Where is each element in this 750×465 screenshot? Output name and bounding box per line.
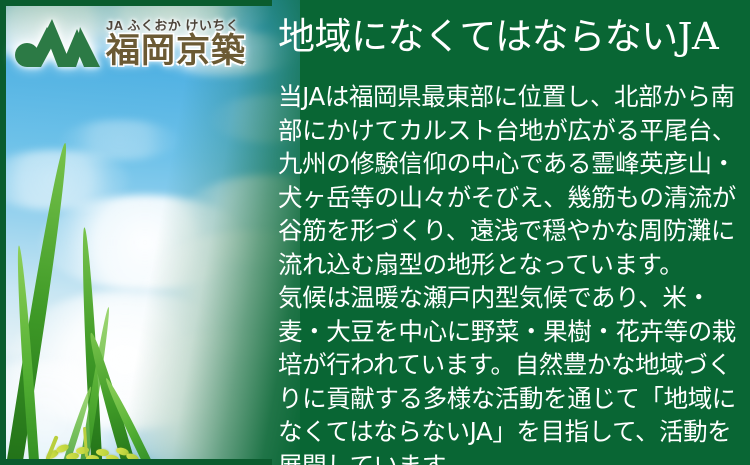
ja-fukuoka-keichiku-banner: JA ふくおか けいちく 福岡京築 地域になくてはならないJA 当JAは福岡県最…: [0, 0, 750, 465]
logo-wordmark: JA ふくおか けいちく 福岡京築: [106, 19, 246, 68]
paragraph: 当JAは福岡県最東部に位置し、北部から南部にかけてカルスト台地が広がる平尾台、九…: [278, 80, 744, 281]
page-title: 地域になくてはならないJA: [278, 17, 718, 58]
body-copy: 当JAは福岡県最東部に位置し、北部から南部にかけてカルスト台地が広がる平尾台、九…: [278, 80, 744, 465]
logo-name-line: 福岡京築: [106, 34, 246, 68]
logo-kana-line: JA ふくおか けいちく: [106, 19, 246, 32]
ja-logo-lockup[interactable]: JA ふくおか けいちく 福岡京築: [14, 6, 272, 80]
paragraph: 気候は温暖な瀬戸内型気候であり、米・麦・大豆を中心に野菜・果樹・花卉等の栽培が行…: [278, 281, 744, 465]
rice-ear: [44, 421, 154, 465]
text-column: 地域になくてはならないJA 当JAは福岡県最東部に位置し、北部から南部にかけてカ…: [278, 0, 750, 465]
ja-logo-mark-icon: [14, 15, 100, 71]
